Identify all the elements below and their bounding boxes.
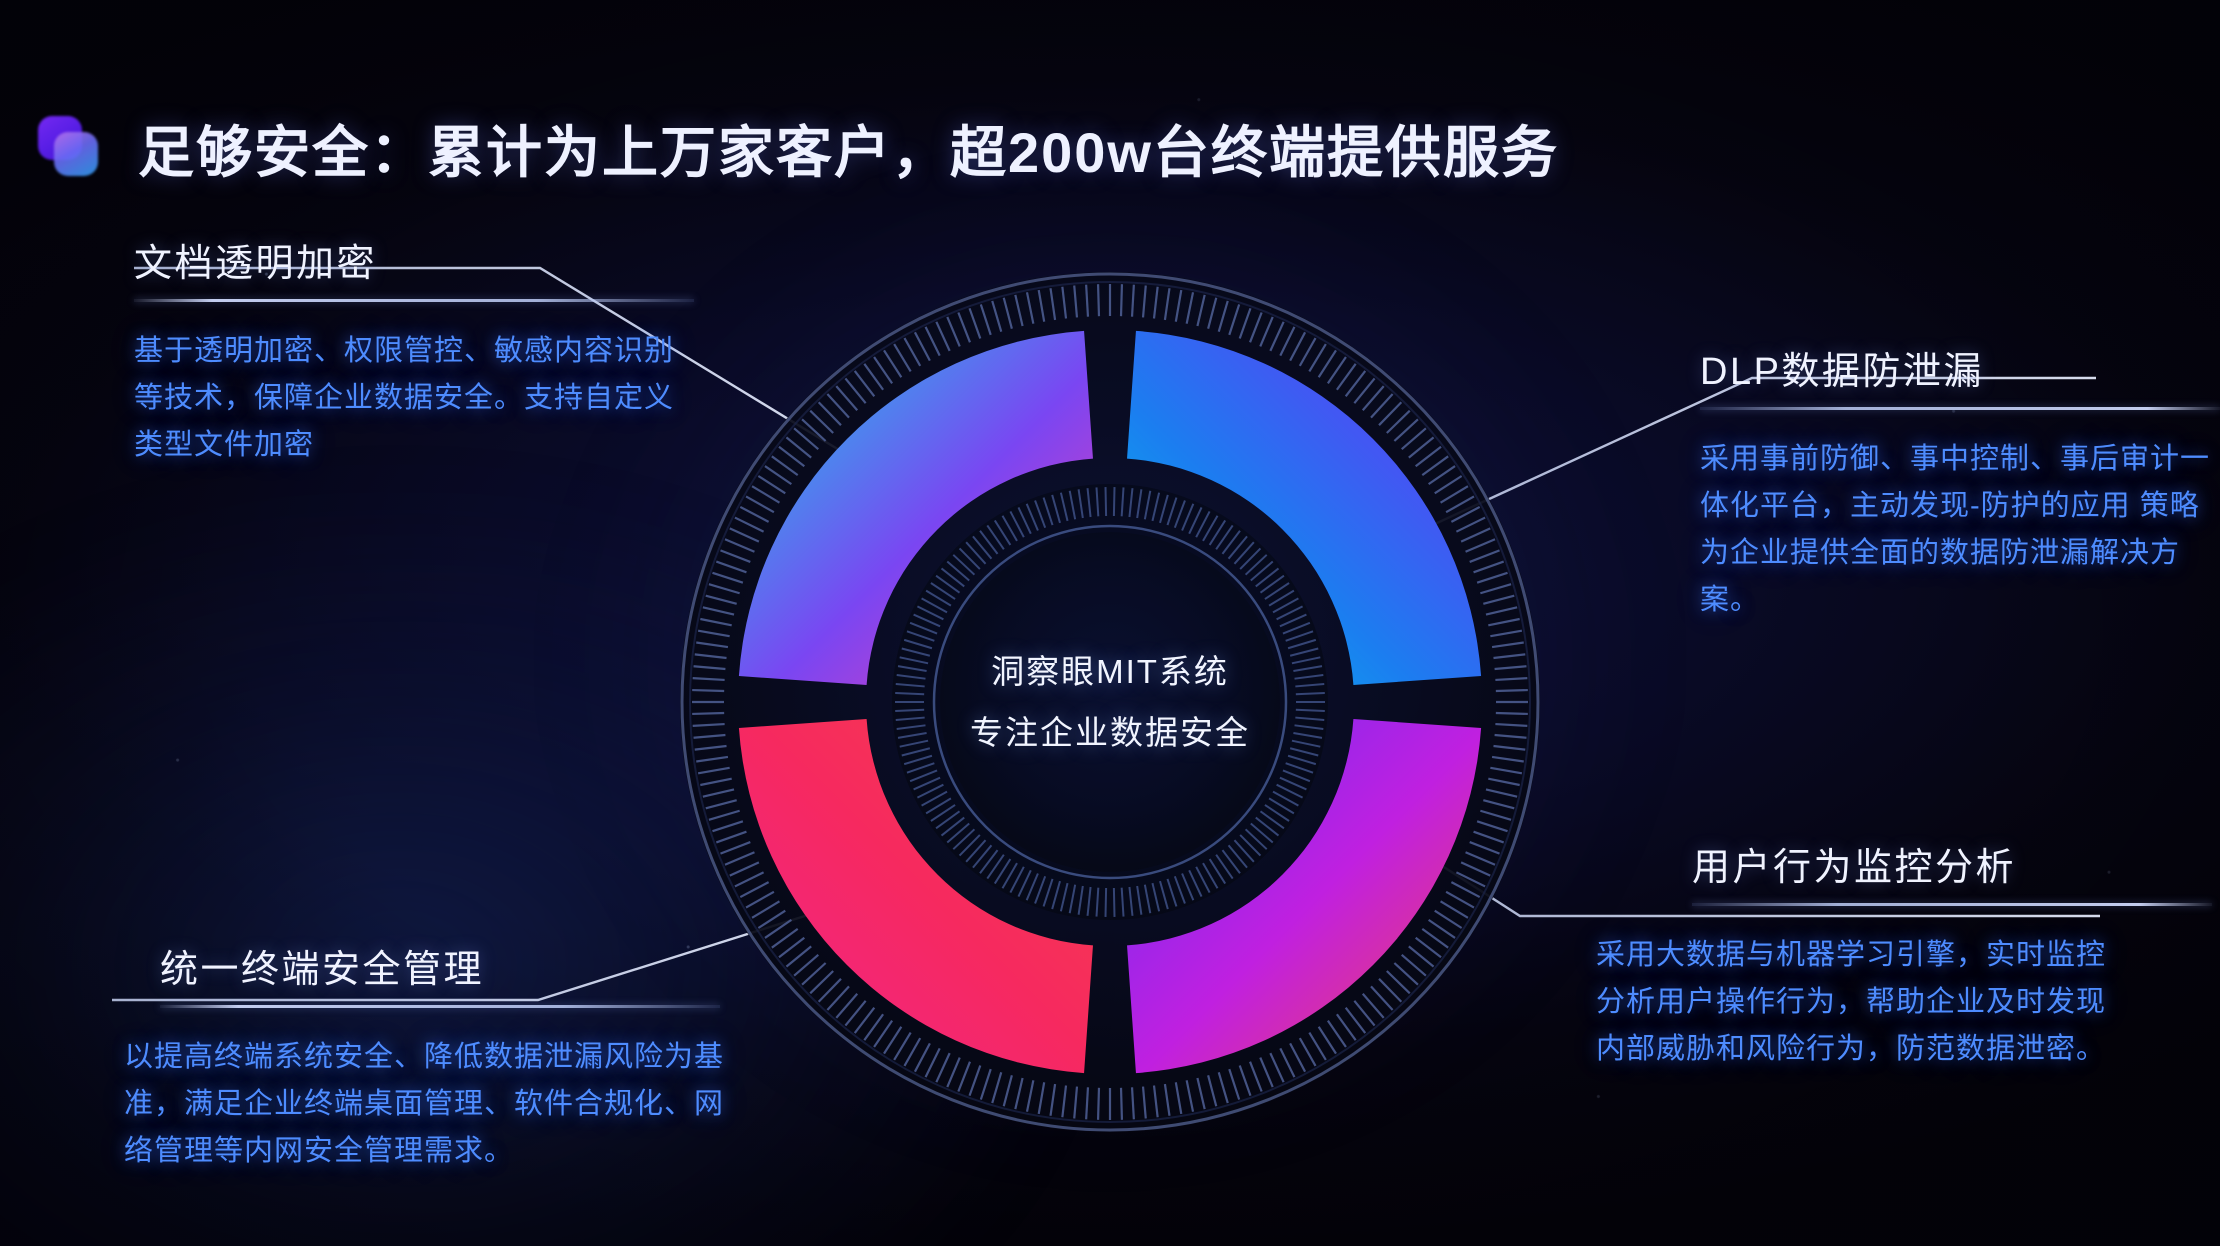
callout-body-unified-endpoint: 以提高终端系统安全、降低数据泄漏风险为基准，满足企业终端桌面管理、软件合规化、网… (124, 1034, 752, 1175)
callout-title-unified-endpoint: 统一终端安全管理 (160, 938, 720, 993)
callout-doc-encryption[interactable]: 文档透明加密 基于透明加密、权限管控、敏感内容识别等技术，保障企业数据安全。支持… (134, 232, 694, 469)
callout-body-user-behavior: 采用大数据与机器学习引擎，实时监控分析用户操作行为，帮助企业及时发现内部威胁和风… (1596, 932, 2120, 1073)
capability-donut-chart (660, 252, 1560, 1152)
brand-square-front (54, 132, 98, 176)
callout-title-doc-encryption: 文档透明加密 (134, 232, 694, 287)
callout-body-dlp: 采用事前防御、事中控制、事后审计一体化平台，主动发现-防护的应用 策略为企业提供… (1700, 436, 2220, 624)
callout-body-doc-encryption: 基于透明加密、权限管控、敏感内容识别等技术，保障企业数据安全。支持自定义类型文件… (134, 328, 694, 469)
page-title: 足够安全：累计为上万家客户，超200w台终端提供服务 (138, 108, 1559, 189)
callout-title-user-behavior: 用户行为监控分析 (1692, 836, 2212, 891)
callout-dlp[interactable]: DLP数据防泄漏 采用事前防御、事中控制、事后审计一体化平台，主动发现-防护的应… (1700, 340, 2220, 624)
callout-rule-unified-endpoint (160, 1005, 720, 1008)
callout-rule-dlp (1700, 407, 2220, 410)
brand-squares-icon (38, 116, 94, 172)
callout-rule-doc-encryption (134, 299, 694, 302)
callout-title-dlp: DLP数据防泄漏 (1700, 340, 2220, 395)
page-header: 足够安全：累计为上万家客户，超200w台终端提供服务 (0, 0, 2220, 190)
callout-unified-endpoint[interactable]: 统一终端安全管理 以提高终端系统安全、降低数据泄漏风险为基准，满足企业终端桌面管… (160, 938, 720, 1175)
callout-rule-user-behavior (1692, 903, 2212, 906)
callout-user-behavior[interactable]: 用户行为监控分析 采用大数据与机器学习引擎，实时监控分析用户操作行为，帮助企业及… (1692, 836, 2212, 1073)
